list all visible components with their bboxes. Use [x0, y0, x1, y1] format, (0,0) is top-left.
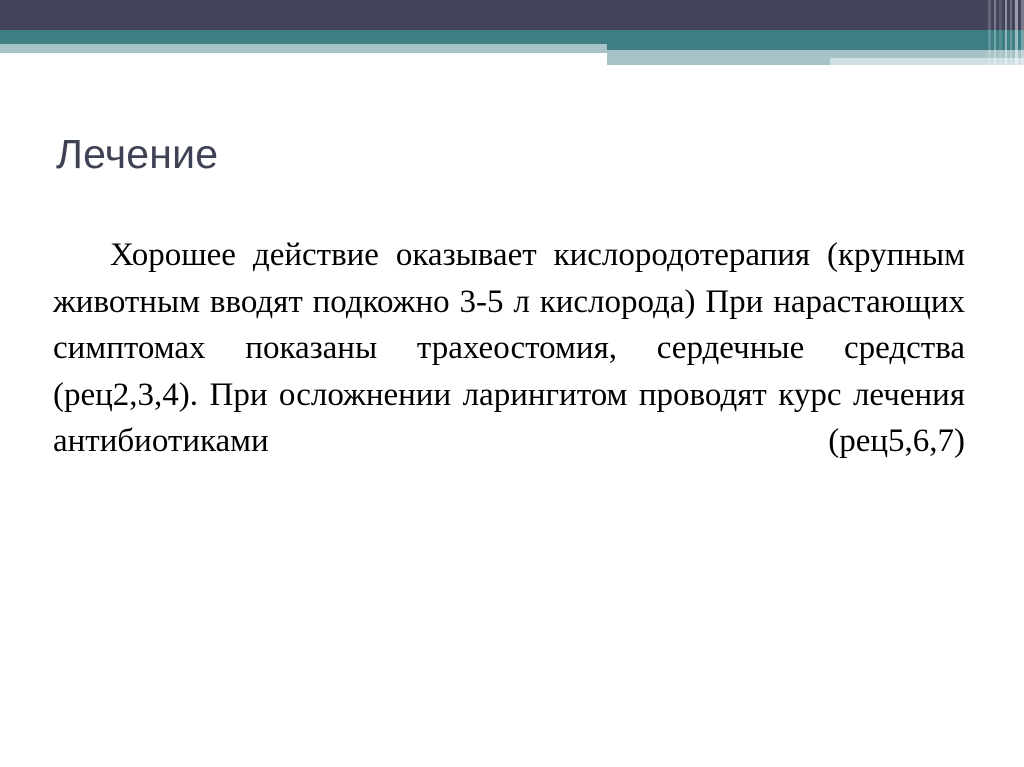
header-band-pale-shelf — [607, 58, 830, 65]
header-band-hairline — [0, 53, 607, 56]
header-vertical-stripe — [994, 0, 996, 70]
header-band-pale-left — [0, 44, 607, 53]
slide: Лечение Хорошее действие оказывает кисло… — [0, 0, 1024, 767]
header-vertical-stripes — [984, 0, 1024, 70]
header-band-dark — [0, 0, 1024, 30]
header-vertical-stripe — [1015, 0, 1018, 70]
header-band-teal-left — [0, 30, 607, 44]
header-vertical-stripe — [1005, 0, 1007, 70]
slide-title: Лечение — [56, 131, 956, 178]
header-decoration-band — [0, 0, 1024, 70]
slide-body-text: Хорошее действие оказывает кислородотера… — [53, 232, 965, 511]
header-band-pale-right — [607, 50, 1024, 58]
header-vertical-stripe — [1010, 0, 1012, 70]
header-band-teal-right — [607, 30, 1024, 50]
header-vertical-stripe — [999, 0, 1002, 70]
header-vertical-stripe — [988, 0, 991, 70]
